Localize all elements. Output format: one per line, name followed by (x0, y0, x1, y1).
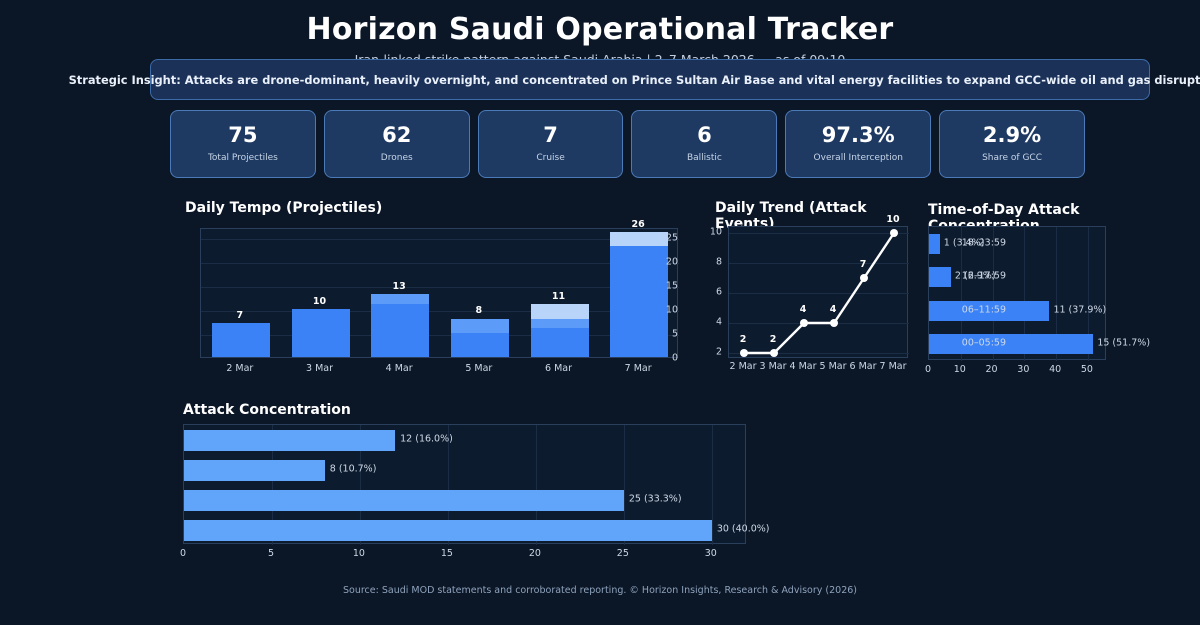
segment-drones (292, 309, 350, 357)
tempo-y-tick: 0 (658, 353, 678, 364)
tempo-x-tick: 6 Mar (530, 363, 588, 374)
trend-point[interactable] (890, 229, 898, 237)
tempo-bar[interactable] (212, 323, 270, 357)
tempo-y-tick: 25 (658, 232, 678, 243)
gridline (712, 425, 713, 545)
trend-point-label: 2 (770, 334, 777, 345)
kpi-value: 7 (543, 125, 558, 146)
daily-trend-chart: Daily Trend (Attack Events) 24681022 Mar… (700, 200, 930, 385)
kpi-label: Share of GCC (982, 153, 1042, 163)
tod-value-label: 2 (6.9%) (955, 271, 996, 282)
trend-point[interactable] (740, 349, 748, 357)
tod-category-label: 06–11:59 (962, 304, 1006, 315)
tempo-value-label: 8 (450, 305, 508, 316)
trend-y-tick: 4 (700, 317, 722, 328)
kpi-label: Total Projectiles (208, 153, 278, 163)
gridline (201, 239, 679, 240)
kpi-value: 62 (382, 125, 411, 146)
tempo-y-tick: 20 (658, 256, 678, 267)
trend-point-label: 7 (860, 259, 867, 270)
tempo-value-label: 10 (291, 296, 349, 307)
segment-ballistic (531, 304, 589, 318)
tempo-bar[interactable] (451, 319, 509, 358)
trend-y-tick: 2 (700, 347, 722, 358)
tod-x-tick: 40 (1043, 364, 1067, 375)
kpi-label: Cruise (536, 153, 564, 163)
trend-point[interactable] (800, 319, 808, 327)
segment-cruise (371, 294, 429, 304)
tod-bar[interactable] (929, 334, 1093, 354)
kpi-value: 97.3% (822, 125, 895, 146)
tod-x-tick: 10 (948, 364, 972, 375)
footer-source: Source: Saudi MOD statements and corrobo… (0, 585, 1200, 596)
conc-value-label: 25 (33.3%) (629, 494, 682, 505)
conc-value-label: 8 (10.7%) (330, 464, 377, 475)
tod-value-label: 11 (37.9%) (1053, 304, 1106, 315)
conc-x-tick: 5 (256, 548, 286, 559)
segment-drones (212, 323, 270, 357)
kpi-card-4[interactable]: 6Ballistic (631, 110, 777, 178)
tempo-value-label: 11 (530, 291, 588, 302)
trend-point[interactable] (830, 319, 838, 327)
gridline (201, 263, 679, 264)
kpi-label: Overall Interception (814, 153, 903, 163)
tod-x-tick: 30 (1011, 364, 1035, 375)
conc-x-tick: 20 (520, 548, 550, 559)
segment-drones (531, 328, 589, 357)
page-title: Horizon Saudi Operational Tracker (0, 0, 1200, 47)
strategic-insight-text: Strategic Insight: Attacks are drone-dom… (55, 73, 1200, 87)
segment-drones (371, 304, 429, 357)
gridline (201, 311, 679, 312)
segment-cruise (451, 319, 509, 333)
kpi-card-5[interactable]: 97.3%Overall Interception (785, 110, 931, 178)
conc-x-tick: 30 (696, 548, 726, 559)
conc-value-label: 30 (40.0%) (717, 524, 770, 535)
daily-trend-plot (728, 226, 908, 358)
kpi-label: Drones (381, 153, 413, 163)
attack-concentration-plot (183, 424, 746, 544)
tempo-value-label: 26 (609, 219, 667, 230)
tempo-x-tick: 4 Mar (370, 363, 428, 374)
kpi-card-2[interactable]: 62Drones (324, 110, 470, 178)
daily-tempo-chart: Daily Tempo (Projectiles) 051015202572 M… (178, 200, 678, 385)
kpi-value: 2.9% (983, 125, 1041, 146)
tod-value-label: 1 (3.4%) (944, 237, 985, 248)
segment-cruise (531, 319, 589, 329)
tod-bar[interactable] (929, 234, 940, 254)
kpi-label: Ballistic (687, 153, 722, 163)
strategic-insight-banner: Strategic Insight: Attacks are drone-dom… (150, 59, 1150, 100)
tempo-bar[interactable] (371, 294, 429, 357)
conc-x-tick: 10 (344, 548, 374, 559)
tempo-y-tick: 15 (658, 280, 678, 291)
gridline (201, 287, 679, 288)
tod-bar[interactable] (929, 267, 951, 287)
trend-point[interactable] (770, 349, 778, 357)
trend-point[interactable] (860, 274, 868, 282)
trend-point-label: 2 (740, 334, 747, 345)
attack-concentration-chart: Attack Concentration 051015202530Prince … (0, 402, 800, 562)
kpi-card-1[interactable]: 75Total Projectiles (170, 110, 316, 178)
kpi-card-row: 75Total Projectiles62Drones7Cruise6Balli… (170, 110, 1085, 178)
dashboard-page: Horizon Saudi Operational Tracker Iran-l… (0, 0, 1200, 625)
tempo-bar[interactable] (292, 309, 350, 357)
tod-x-tick: 50 (1075, 364, 1099, 375)
daily-tempo-plot (200, 228, 678, 358)
conc-x-tick: 25 (608, 548, 638, 559)
tod-value-label: 15 (51.7%) (1097, 338, 1150, 349)
conc-bar[interactable] (184, 520, 712, 541)
conc-value-label: 12 (16.0%) (400, 434, 453, 445)
tempo-y-tick: 5 (658, 328, 678, 339)
kpi-card-6[interactable]: 2.9%Share of GCC (939, 110, 1085, 178)
attack-concentration-title: Attack Concentration (183, 402, 351, 418)
kpi-card-3[interactable]: 7Cruise (478, 110, 624, 178)
trend-point-label: 4 (830, 304, 837, 315)
tempo-x-tick: 7 Mar (609, 363, 667, 374)
kpi-value: 75 (228, 125, 257, 146)
tod-x-tick: 20 (980, 364, 1004, 375)
tempo-y-tick: 10 (658, 304, 678, 315)
conc-bar[interactable] (184, 430, 395, 451)
tempo-bar[interactable] (531, 304, 589, 357)
daily-tempo-title: Daily Tempo (Projectiles) (185, 200, 382, 216)
conc-x-tick: 15 (432, 548, 462, 559)
conc-bar[interactable] (184, 490, 624, 511)
time-of-day-chart: Time-of-Day Attack Concentration 0102030… (928, 202, 1190, 387)
segment-drones (451, 333, 509, 357)
tod-x-tick: 0 (916, 364, 940, 375)
trend-y-tick: 6 (700, 287, 722, 298)
kpi-value: 6 (697, 125, 712, 146)
tod-category-label: 00–05:59 (962, 338, 1006, 349)
trend-x-tick: 7 Mar (872, 361, 914, 372)
gridline (201, 335, 679, 336)
trend-y-tick: 8 (700, 257, 722, 268)
trend-line (729, 227, 909, 359)
tempo-value-label: 13 (370, 281, 428, 292)
trend-point-label: 4 (800, 304, 807, 315)
tempo-x-tick: 5 Mar (450, 363, 508, 374)
conc-bar[interactable] (184, 460, 325, 481)
trend-y-tick: 10 (700, 227, 722, 238)
tempo-value-label: 7 (211, 310, 269, 321)
trend-point-label: 10 (886, 214, 899, 225)
tempo-x-tick: 2 Mar (211, 363, 269, 374)
tempo-x-tick: 3 Mar (291, 363, 349, 374)
conc-x-tick: 0 (168, 548, 198, 559)
